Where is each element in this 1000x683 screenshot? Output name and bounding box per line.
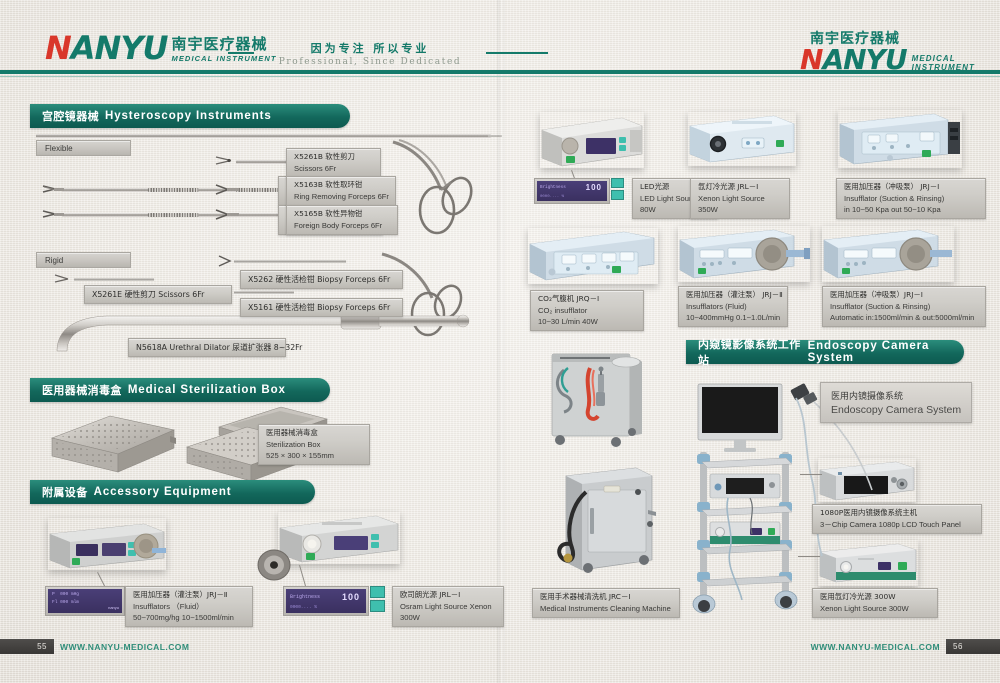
label-insuf-fluid-r-cn: 医用加压器（灌注泵） JRJ－Ⅱ: [686, 290, 780, 301]
device-cleaning-machine-upper: [540, 348, 648, 460]
label-insufflator-fluid-cn: 医用加压器（灌注泵）JRJ－Ⅱ: [133, 590, 245, 601]
readout-led-buttons: [611, 178, 624, 200]
label-x5262: X5262 硬性活检钳 Biopsy Forceps 6Fr: [240, 270, 403, 289]
label-cleaning-cn: 医用手术器械清洗机 JRC－Ⅰ: [540, 592, 672, 603]
fiber-connector: [256, 548, 292, 587]
footer-url-right: WWW.NANYU-MEDICAL.COM: [811, 639, 940, 654]
group-label-rigid-text: Rigid: [45, 256, 63, 265]
label-xenon-spec: 350W: [698, 204, 782, 215]
slogan-dash-right: [486, 52, 548, 54]
label-insuf-suction-1-cn: 医用加压器（冲吸泵） JRJ－Ⅰ: [844, 182, 978, 193]
cleaning-machine-upper-icon: [540, 348, 648, 460]
label-insuf-suction-2-cn: 医用加压器（冲吸泵）JRJ－Ⅰ: [830, 290, 978, 301]
label-x5165b-cn: X5165B 软性异物钳: [294, 209, 390, 220]
logo-left: NANYU 南宇医疗器械 MEDICAL INSTRUMENT: [45, 32, 277, 64]
caption-camera-en: Endoscopy Camera System: [831, 404, 961, 416]
insufflator-suction-icon-a: [838, 110, 962, 168]
label-xenon-300w-cn: 医用氙灯冷光源 300W: [820, 592, 930, 603]
device-insufflator-suction-1: [838, 110, 962, 168]
label-camera-host-en: 3－Chip Camera 1080p LCD Touch Panel: [820, 519, 974, 530]
biopsy-jaw-icon: [42, 208, 64, 222]
footer-url-left-text: WWW.NANYU-MEDICAL.COM: [60, 642, 189, 652]
co2-insufflator-icon: [528, 228, 658, 284]
readout-osram-value: 100: [342, 592, 360, 602]
device-led-light: [540, 112, 644, 168]
banner-sterilization-en: Medical Sterilization Box: [128, 384, 286, 396]
label-sterilization-en: Sterilization Box: [266, 439, 362, 450]
brand-sub-en-l1: MEDICAL: [912, 54, 975, 63]
label-xenon-300w: 医用氙灯冷光源 300W Xenon Light Source 300W: [812, 588, 938, 618]
osram-btn-down[interactable]: [370, 600, 385, 612]
readout-led-value: 100: [586, 183, 602, 192]
banner-hysteroscopy-cn: 宫腔镜器械: [42, 108, 99, 124]
page-number-right: 56: [953, 642, 963, 651]
label-sterilization-box: 医用器械消毒盒 Sterilization Box 525 × 300 × 15…: [258, 424, 370, 465]
led-btn-up[interactable]: [611, 178, 624, 188]
rigid-scissors-jaw-icon: [54, 272, 76, 286]
label-insufflator-fluid: 医用加压器（灌注泵）JRJ－Ⅱ Insufflators （Fluid） 50~…: [125, 586, 253, 627]
slogan-cn: 因为专注 所以专业: [255, 40, 485, 56]
label-insuf-suction-1-en: Insufflator (Suction & Rinsing): [844, 193, 978, 204]
page-number-left: 55: [37, 642, 47, 651]
readout-osram-label: Brightness: [290, 594, 320, 600]
group-label-flexible-text: Flexible: [45, 144, 73, 153]
label-x5165b: X5165B 软性异物钳 Foreign Body Forceps 6Fr: [286, 205, 398, 235]
device-xenon-light: [688, 112, 796, 166]
led-light-source-icon: [540, 112, 644, 168]
scissors-jaw-icon: [215, 153, 241, 169]
label-osram-spec: 300W: [400, 612, 496, 623]
footer-left: 55 WWW.NANYU-MEDICAL.COM: [0, 639, 500, 683]
foreign-body-jaw-icon: [215, 208, 239, 222]
fiber-connector-icon: [256, 548, 292, 582]
banner-sterilization-cn: 医用器械消毒盒: [42, 382, 122, 398]
label-x5261b-cn: X5261B 软性剪刀: [294, 152, 373, 163]
label-co2-cn: CO₂气腹机 JRQ－Ⅰ: [538, 294, 636, 305]
label-insufflator-fluid-right: 医用加压器（灌注泵） JRJ－Ⅱ Insufflators (Fluid) 10…: [678, 286, 788, 327]
cleaning-machine-lower-icon: [548, 462, 656, 580]
label-insufflator-suction-1: 医用加压器（冲吸泵） JRJ－Ⅰ Insufflator (Suction & …: [836, 178, 986, 219]
label-cleaning-machine: 医用手术器械清洗机 JRC－Ⅰ Medical Instruments Clea…: [532, 588, 680, 618]
label-x5165b-en: Foreign Body Forceps 6Fr: [294, 220, 390, 231]
label-insuf-suction-1-spec: in 10~50 Kpa out 50~10 Kpa: [844, 204, 978, 215]
slogan-block: 因为专注 所以专业 Professional, Since Dedicated: [255, 40, 485, 67]
device-cleaning-machine-lower: [548, 462, 656, 580]
readout-led: Brightness 100 0000.... %: [534, 178, 610, 204]
label-insufflator-suction-2: 医用加压器（冲吸泵）JRJ－Ⅰ Insufflator (Suction & R…: [822, 286, 986, 327]
device-insufflator-fluid: [48, 518, 166, 570]
label-xenon-light: 氙灯冷光源 JRL－Ⅰ Xenon Light Source 350W: [690, 178, 790, 219]
brand-wordmark-right-first: N: [800, 43, 822, 76]
banner-camera-cn: 内窥镜影像系统工作站: [698, 336, 802, 368]
leader-line-xenon-300w: [798, 556, 820, 557]
handle-forceps-upper: [385, 138, 495, 258]
banner-camera-en: Endoscopy Camera System: [808, 340, 964, 364]
serrated-jaw-icon: [42, 183, 64, 197]
label-x5261b: X5261B 软性剪刀 Scissors 6Fr: [286, 148, 381, 178]
label-insufflator-fluid-spec: 50~700mg/hg 10~1500ml/min: [133, 612, 245, 623]
readout-osram: Brightness 100 0000.... %: [283, 586, 369, 616]
group-label-rigid: Rigid: [36, 252, 131, 268]
osram-light-source-icon: [278, 512, 400, 564]
footer-url-left: WWW.NANYU-MEDICAL.COM: [60, 639, 189, 654]
device-osram-light: [278, 512, 400, 564]
label-camera-host-cn: 1080P医用内镜摄像系统主机: [820, 508, 974, 519]
label-x5161: X5161 硬性活检钳 Biopsy Forceps 6Fr: [240, 298, 403, 317]
label-x5163b-en: Ring Removing Forceps 6Fr: [294, 191, 388, 202]
banner-accessory: 附属设备 Accessory Equipment: [30, 480, 315, 504]
label-xenon-cn: 氙灯冷光源 JRL－Ⅰ: [698, 182, 782, 193]
sterilization-box-closed-icon: [48, 410, 178, 480]
instrument-long-shaft-tip: [488, 135, 502, 137]
insufflator-fluid-icon: [48, 518, 166, 570]
label-co2-spec: 10~30 L/min 40W: [538, 316, 636, 327]
label-xenon-300w-en: Xenon Light Source 300W: [820, 603, 930, 614]
osram-btn-up[interactable]: [370, 586, 385, 598]
caption-camera-system: 医用内镜摄像系统 Endoscopy Camera System: [820, 382, 972, 423]
header-rule-thin: [0, 76, 1000, 77]
page-header: NANYU 南宇医疗器械 MEDICAL INSTRUMENT 因为专注 所以专…: [0, 0, 1000, 78]
xenon-light-source-icon: [688, 112, 796, 166]
slogan-dash-left: [228, 52, 254, 54]
page-number-left-tab: 55: [0, 639, 54, 654]
label-sterilization-cn: 医用器械消毒盒: [266, 428, 362, 439]
banner-accessory-cn: 附属设备: [42, 484, 88, 500]
caption-camera-cn: 医用内镜摄像系统: [831, 389, 961, 402]
brand-wordmark-rest: ANYU: [71, 29, 168, 67]
label-camera-host: 1080P医用内镜摄像系统主机 3－Chip Camera 1080p LCD …: [812, 504, 982, 534]
label-insuf-suction-2-spec: Automatic in:1500ml/min & out:5000ml/min: [830, 312, 978, 323]
banner-accessory-en: Accessory Equipment: [94, 486, 232, 498]
label-osram-en: Osram Light Source Xenon: [400, 601, 496, 612]
label-insuf-suction-2-en: Insufflator (Suction & Rinsing): [830, 301, 978, 312]
rigid-biopsy-jaw-icon-a: [218, 254, 240, 268]
banner-hysteroscopy-en: Hysteroscopy Instruments: [105, 110, 272, 122]
readout-insufflator: P 000 mHg Fl 000 mlm nanyu: [45, 586, 125, 616]
footer-right: WWW.NANYU-MEDICAL.COM 56: [500, 639, 1000, 683]
label-osram-cn: 欧司朗光源 JRL－Ⅰ: [400, 590, 496, 601]
readout-led-label: Brightness: [540, 185, 566, 190]
footer-url-right-text: WWW.NANYU-MEDICAL.COM: [811, 642, 940, 652]
brand-wordmark: NANYU: [45, 32, 167, 64]
slogan-en: Professional, Since Dedicated: [255, 57, 485, 67]
brand-wordmark-first: N: [45, 29, 71, 67]
ring-removing-jaw-icon: [215, 183, 239, 197]
group-label-flexible: Flexible: [36, 140, 131, 156]
label-xenon-en: Xenon Light Source: [698, 193, 782, 204]
label-n5618a: N5618A Urethral Dilator 尿道扩张器 8~32Fr: [128, 338, 286, 357]
device-co2-insufflator: [528, 228, 658, 284]
label-x5163b: X5163B 软性取环钳 Ring Removing Forceps 6Fr: [286, 176, 396, 206]
label-cleaning-en: Medical Instruments Cleaning Machine: [540, 603, 672, 614]
brand-wordmark-right: NANYU: [800, 46, 907, 74]
label-co2-en: CO₂ insufflator: [538, 305, 636, 316]
label-x5262-text: X5262 硬性活检钳 Biopsy Forceps 6Fr: [248, 274, 395, 285]
sterilization-box-closed: [48, 410, 178, 485]
page-number-right-tab: 56: [946, 639, 1000, 654]
label-sterilization-size: 525 × 300 × 155mm: [266, 450, 362, 461]
insufflator-suction-icon-b: [822, 226, 954, 282]
leader-line-camera-host: [800, 474, 822, 475]
label-insufflator-fluid-en: Insufflators （Fluid）: [133, 601, 245, 612]
forceps-handle-icon: [385, 138, 495, 253]
label-x5161-text: X5161 硬性活检钳 Biopsy Forceps 6Fr: [248, 302, 395, 313]
label-x5261b-en: Scissors 6Fr: [294, 163, 373, 174]
device-insufflator-fluid-right: [678, 226, 810, 282]
device-insufflator-suction-2: [822, 226, 954, 282]
brand-wordmark-right-rest: ANYU: [822, 43, 906, 76]
label-insuf-fluid-r-spec: 10~400mmHg 0.1~1.0L/min: [686, 312, 780, 323]
label-n5618a-text: N5618A Urethral Dilator 尿道扩张器 8~32Fr: [136, 342, 278, 353]
banner-hysteroscopy: 宫腔镜器械 Hysteroscopy Instruments: [30, 104, 350, 128]
banner-camera-system: 内窥镜影像系统工作站 Endoscopy Camera System: [686, 340, 964, 364]
readout-osram-buttons: [370, 586, 385, 612]
logo-right: 南宇医疗器械 NANYU MEDICAL INSTRUMENT: [800, 28, 975, 74]
label-x5261e: X5261E 硬性剪刀 Scissors 6Fr: [84, 285, 232, 304]
label-x5163b-cn: X5163B 软性取环钳: [294, 180, 388, 191]
brand-sub-en-l2: INSTRUMENT: [912, 63, 975, 72]
label-x5261e-text: X5261E 硬性剪刀 Scissors 6Fr: [92, 289, 224, 300]
label-co2-insufflator: CO₂气腹机 JRQ－Ⅰ CO₂ insufflator 10~30 L/min…: [530, 290, 644, 331]
banner-sterilization: 医用器械消毒盒 Medical Sterilization Box: [30, 378, 330, 402]
label-insuf-fluid-r-en: Insufflators (Fluid): [686, 301, 780, 312]
led-btn-down[interactable]: [611, 190, 624, 200]
label-osram-light: 欧司朗光源 JRL－Ⅰ Osram Light Source Xenon 300…: [392, 586, 504, 627]
insufflator-fluid-right-icon: [678, 226, 810, 282]
